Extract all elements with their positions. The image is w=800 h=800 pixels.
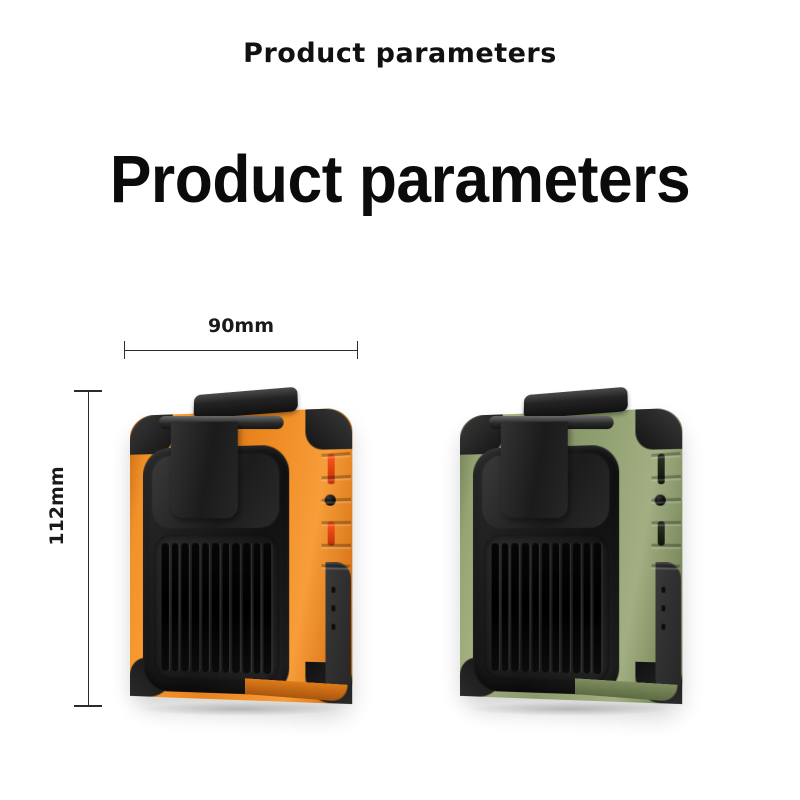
side-ridge-band xyxy=(293,437,351,575)
side-ridge-band xyxy=(623,437,681,575)
led-indicator-icon xyxy=(661,587,665,593)
height-dimension-tick-bottom xyxy=(74,705,102,707)
clip-tongue xyxy=(171,422,238,519)
product-shadow xyxy=(140,702,340,716)
led-indicator-icon xyxy=(661,624,665,630)
width-dimension-tick-left xyxy=(124,341,125,359)
height-dimension-tick-top xyxy=(74,390,102,392)
width-dimension-label: 90mm xyxy=(124,315,358,337)
width-dimension-tick-right xyxy=(357,341,358,359)
product-parameters-page: Product parameters Product parameters 90… xyxy=(0,0,800,800)
product-shadow xyxy=(470,702,670,716)
height-dimension-label: 112mm xyxy=(46,446,68,566)
led-indicator-icon xyxy=(331,587,335,593)
product-image-orange xyxy=(118,390,363,710)
fan-vent-grille xyxy=(154,534,279,684)
width-dimension-line xyxy=(124,350,358,351)
clip-tongue xyxy=(501,422,568,519)
led-indicator-icon xyxy=(331,624,335,630)
height-dimension-line xyxy=(88,390,89,706)
small-page-title: Product parameters xyxy=(0,38,800,69)
fan-vent-grille xyxy=(484,534,609,684)
product-shell xyxy=(130,408,352,704)
led-indicator-icon xyxy=(661,605,665,611)
page-title: Product parameters xyxy=(28,141,772,218)
product-image-green xyxy=(448,390,693,710)
led-indicator-icon xyxy=(331,605,335,611)
product-shell xyxy=(460,408,682,704)
